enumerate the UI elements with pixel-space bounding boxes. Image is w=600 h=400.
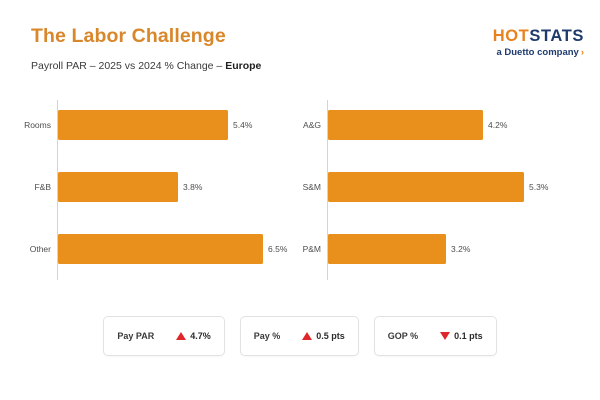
bar-category-label: F&B — [0, 182, 51, 192]
bar-category-label: Other — [0, 244, 51, 254]
chart-bars: A&G 4.2% S&M 5.3% P&M 3.2% — [275, 96, 600, 286]
subtitle-region: Europe — [225, 60, 261, 72]
page-header: The Labor Challenge Payroll PAR – 2025 v… — [0, 0, 600, 88]
logo-wordmark-hot: HOT — [493, 27, 530, 45]
kpi-value-group: 0.1 pts — [440, 331, 483, 341]
bar-rect[interactable] — [58, 234, 263, 264]
triangle-up-icon — [302, 332, 312, 340]
kpi-value: 0.5 pts — [316, 331, 345, 341]
kpi-value: 0.1 pts — [454, 331, 483, 341]
bar-category-label: A&G — [275, 120, 321, 130]
kpi-value-group: 4.7% — [176, 331, 211, 341]
logo-tagline-text: a Duetto company — [496, 47, 578, 58]
chart-departments-operating: Rooms 5.4% F&B 3.8% Other 6.5% — [0, 96, 300, 286]
logo-tagline: a Duetto company› — [493, 48, 584, 58]
charts-area: Rooms 5.4% F&B 3.8% Other 6.5% A&G 4. — [0, 96, 600, 291]
bar-row: P&M 3.2% — [275, 234, 600, 264]
bar-row: S&M 5.3% — [275, 172, 600, 202]
subtitle-text: Payroll PAR – 2025 vs 2024 % Change – — [31, 60, 225, 72]
bar-row: Other 6.5% — [0, 234, 300, 264]
kpi-value-group: 0.5 pts — [302, 331, 345, 341]
hotstats-logo[interactable]: HOTSTATS a Duetto company› — [493, 28, 584, 57]
bar-row: A&G 4.2% — [275, 110, 600, 140]
chart-bars: Rooms 5.4% F&B 3.8% Other 6.5% — [0, 96, 300, 286]
triangle-down-icon — [440, 332, 450, 340]
bar-category-label: Rooms — [0, 120, 51, 130]
bar-rect[interactable] — [58, 110, 228, 140]
kpi-label: Pay % — [254, 331, 281, 341]
bar-category-label: S&M — [275, 182, 321, 192]
chevron-right-icon: › — [581, 47, 584, 58]
triangle-up-icon — [176, 332, 186, 340]
kpi-card-pay-par[interactable]: Pay PAR 4.7% — [103, 316, 224, 356]
page-title: The Labor Challenge — [31, 25, 226, 48]
kpi-card-gop-percent[interactable]: GOP % 0.1 pts — [374, 316, 497, 356]
bar-row: Rooms 5.4% — [0, 110, 300, 140]
kpi-label: Pay PAR — [117, 331, 154, 341]
bar-value-label: 5.4% — [233, 110, 252, 140]
bar-rect[interactable] — [328, 172, 524, 202]
bar-value-label: 3.2% — [451, 234, 470, 264]
page-subtitle: Payroll PAR – 2025 vs 2024 % Change – Eu… — [31, 60, 261, 72]
kpi-value: 4.7% — [190, 331, 211, 341]
logo-wordmark-stats: STATS — [529, 27, 584, 45]
bar-value-label: 5.3% — [529, 172, 548, 202]
kpi-strip: Pay PAR 4.7% Pay % 0.5 pts GOP % 0.1 pts — [0, 316, 600, 356]
kpi-label: GOP % — [388, 331, 418, 341]
bar-rect[interactable] — [58, 172, 178, 202]
bar-rect[interactable] — [328, 234, 446, 264]
bar-row: F&B 3.8% — [0, 172, 300, 202]
bar-value-label: 4.2% — [488, 110, 507, 140]
bar-rect[interactable] — [328, 110, 483, 140]
bar-category-label: P&M — [275, 244, 321, 254]
logo-wordmark: HOTSTATS — [493, 28, 584, 45]
chart-departments-undistributed: A&G 4.2% S&M 5.3% P&M 3.2% — [275, 96, 600, 286]
bar-value-label: 3.8% — [183, 172, 202, 202]
kpi-card-pay-percent[interactable]: Pay % 0.5 pts — [240, 316, 359, 356]
